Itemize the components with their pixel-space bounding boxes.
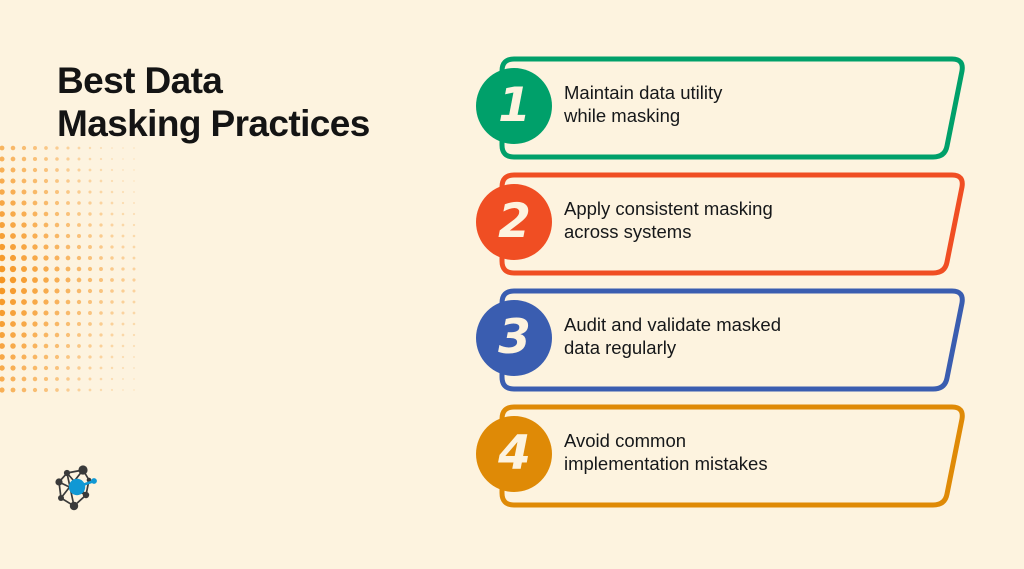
step-badge: 2 (476, 184, 552, 260)
practice-text: Avoid common implementation mistakes (564, 430, 954, 476)
practice-text: Audit and validate masked data regularly (564, 314, 954, 360)
step-number: 1 (498, 82, 530, 129)
step-badge: 1 (476, 68, 552, 144)
step-number: 3 (498, 314, 530, 361)
step-badge: 4 (476, 416, 552, 492)
page-title: Best Data Masking Practices (57, 60, 457, 146)
step-number: 2 (498, 198, 530, 245)
step-badge: 3 (476, 300, 552, 376)
practice-text: Apply consistent masking across systems (564, 198, 954, 244)
list-item[interactable]: 1 Maintain data utility while masking (472, 54, 982, 162)
orange-dot-grid-icon (0, 142, 138, 452)
slide-canvas: Best Data Masking Practices (0, 0, 1024, 569)
list-item[interactable]: 2 Apply consistent masking across system… (472, 170, 982, 278)
list-item[interactable]: 3 Audit and validate masked data regular… (472, 286, 982, 394)
practices-list: 1 Maintain data utility while masking 2 … (472, 54, 982, 524)
network-nodes-logo (53, 464, 103, 514)
step-number: 4 (498, 430, 530, 477)
list-item[interactable]: 4 Avoid common implementation mistakes (472, 402, 982, 510)
practice-text: Maintain data utility while masking (564, 82, 954, 128)
